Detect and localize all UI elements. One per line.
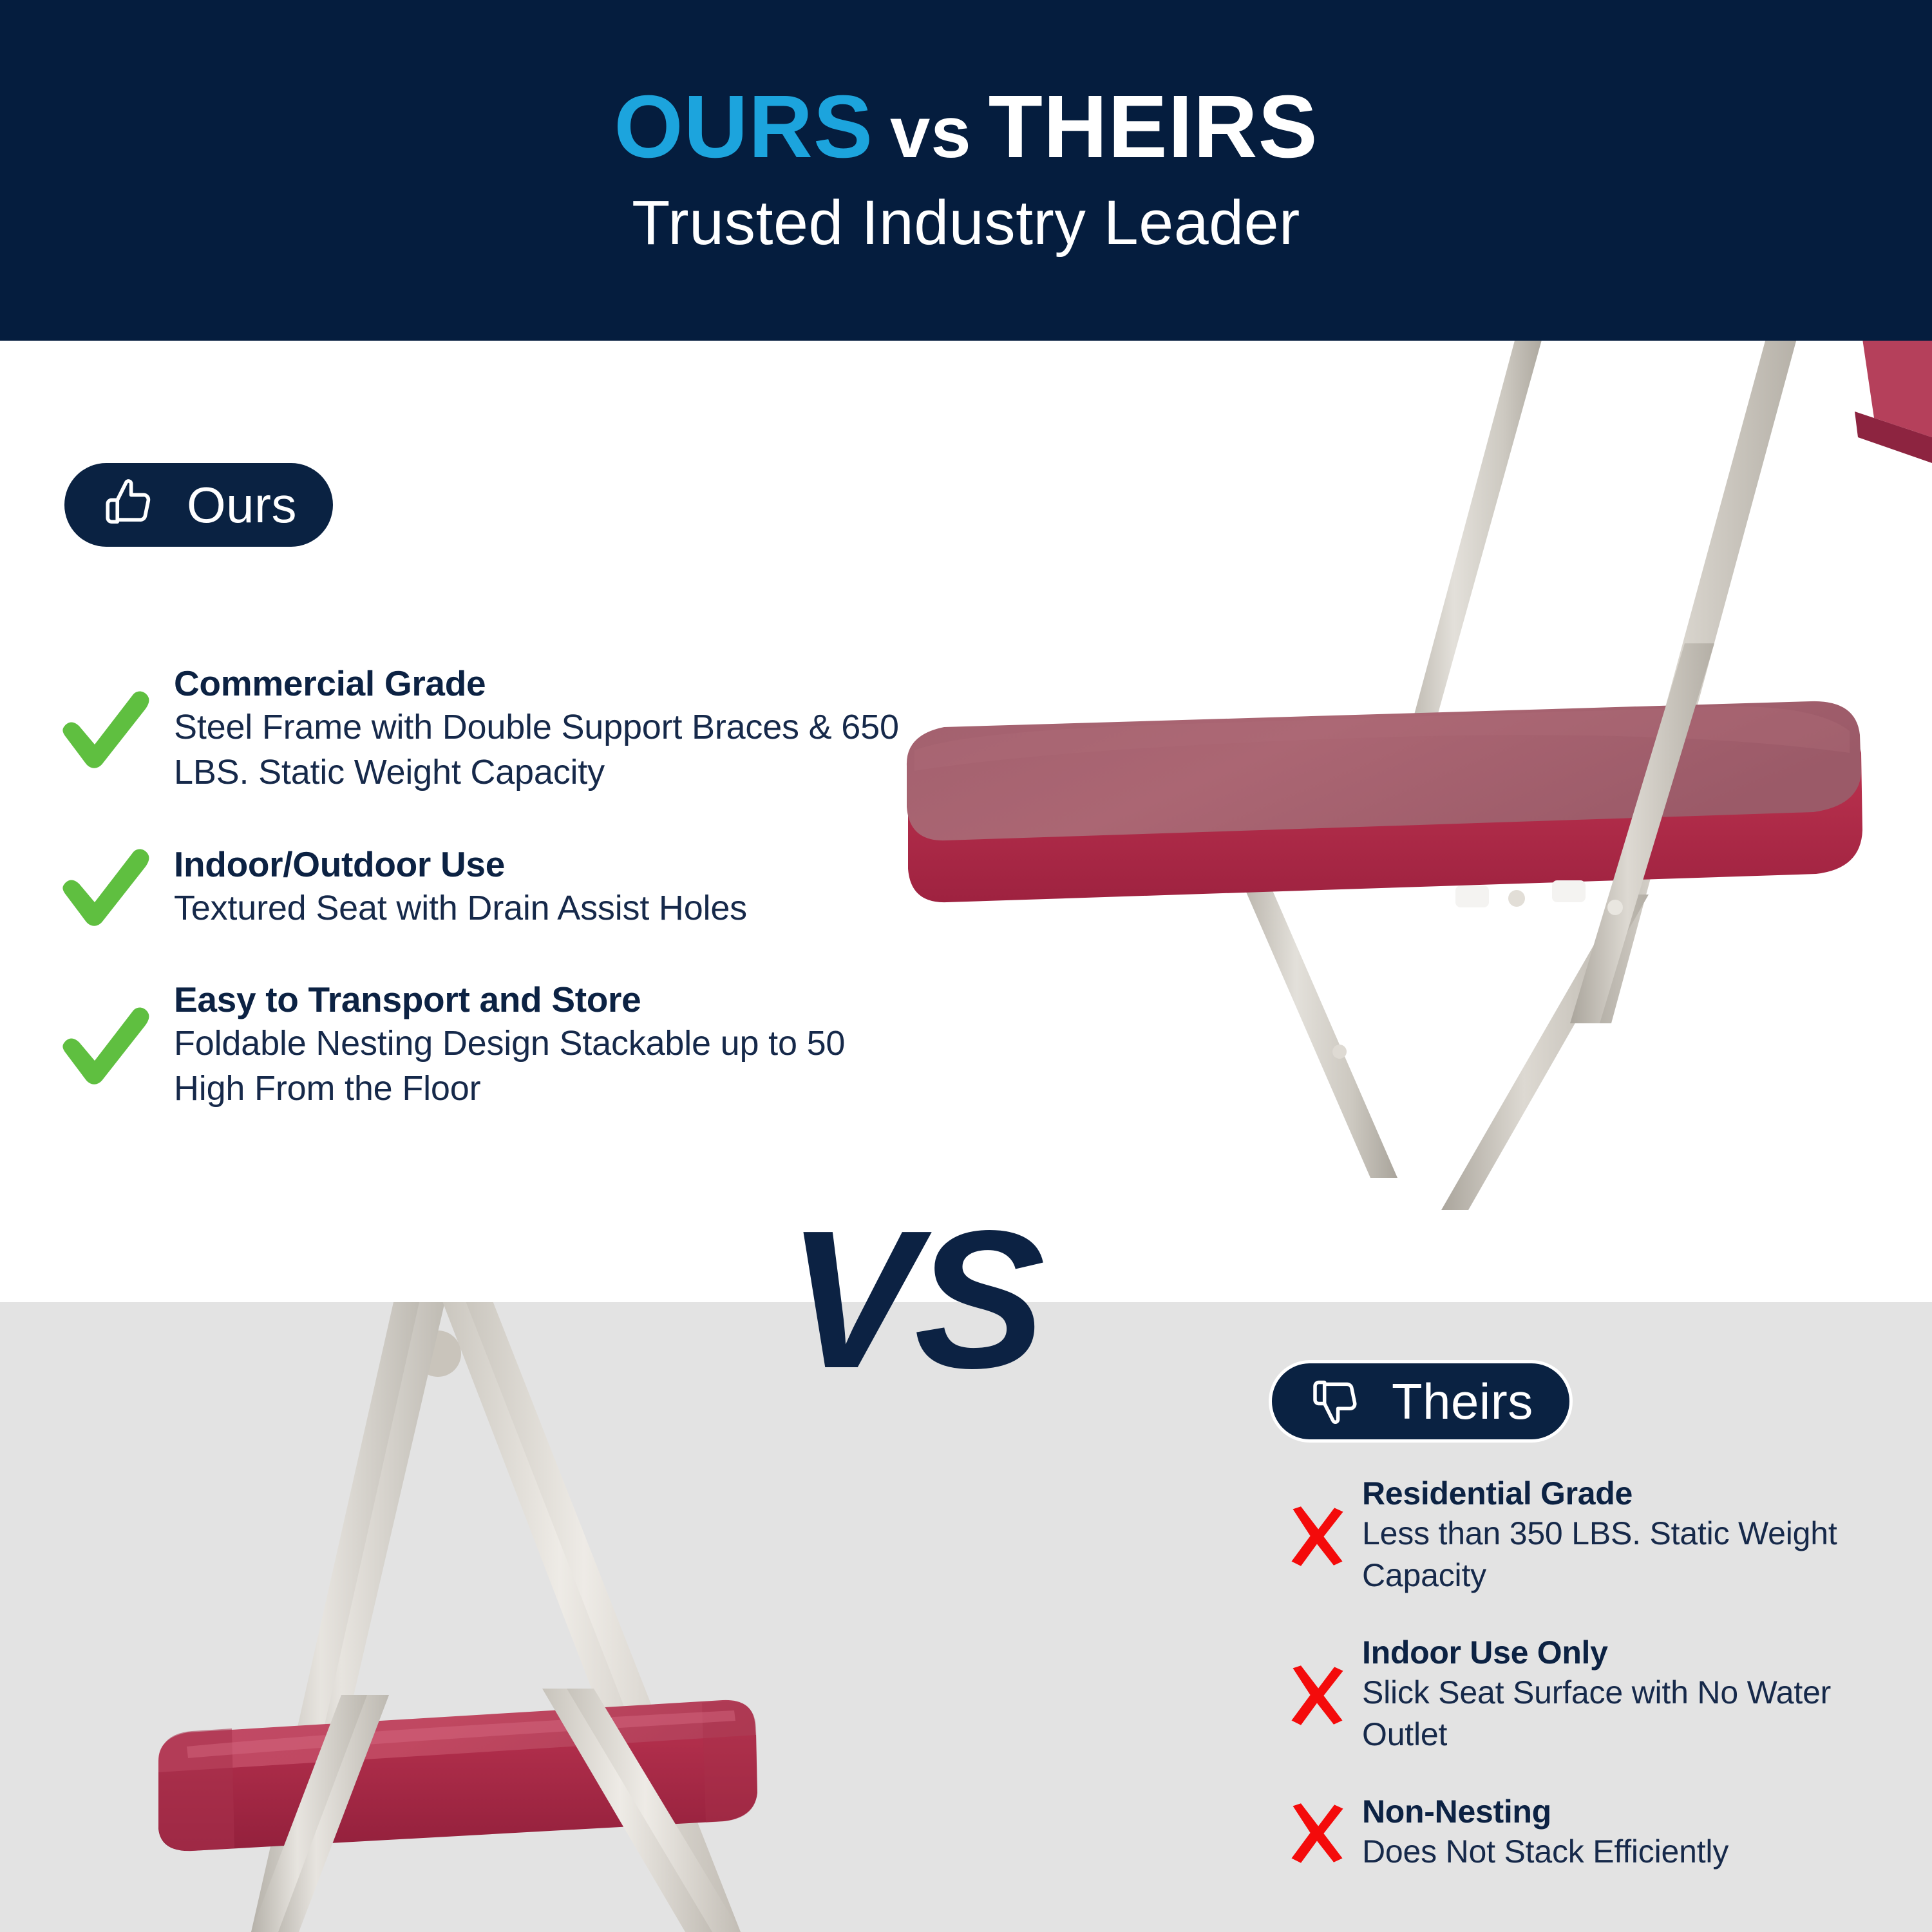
ours-feature-title: Indoor/Outdoor Use xyxy=(174,844,505,884)
cross-icon xyxy=(1272,1502,1362,1569)
thumbs-down-icon xyxy=(1308,1372,1365,1432)
open-folding-chair-photo xyxy=(889,341,1932,1302)
check-icon xyxy=(39,997,174,1094)
check-icon xyxy=(39,681,174,777)
check-icon xyxy=(39,838,174,935)
theirs-feature-item: Indoor Use Only Slick Seat Surface with … xyxy=(1272,1634,1922,1756)
theirs-badge[interactable]: Theirs xyxy=(1269,1360,1573,1443)
title-ours: OURS xyxy=(614,82,873,171)
ours-feature-title: Commercial Grade xyxy=(174,663,486,703)
theirs-badge-label: Theirs xyxy=(1392,1372,1533,1431)
theirs-feature-desc: Less than 350 LBS. Static Weight Capacit… xyxy=(1362,1515,1837,1593)
ours-feature-item: Commercial Grade Steel Frame with Double… xyxy=(39,663,902,795)
cross-icon xyxy=(1272,1799,1362,1866)
ours-feature-desc: Foldable Nesting Design Stackable up to … xyxy=(174,1024,845,1108)
page-header: OURS vs THEIRS Trusted Industry Leader xyxy=(0,0,1932,341)
folded-chair-photo xyxy=(39,1302,1249,1932)
ours-feature-item: Easy to Transport and Store Foldable Nes… xyxy=(39,979,902,1111)
theirs-feature-list: Residential Grade Less than 350 LBS. Sta… xyxy=(1272,1475,1922,1910)
ours-section: Ours Commercial Grade Steel Frame with D… xyxy=(0,341,1932,1302)
title-theirs: THEIRS xyxy=(989,82,1318,171)
theirs-feature-desc: Does Not Stack Efficiently xyxy=(1362,1833,1728,1870)
ours-feature-desc: Textured Seat with Drain Assist Holes xyxy=(174,889,747,927)
theirs-feature-desc: Slick Seat Surface with No Water Outlet xyxy=(1362,1674,1831,1752)
theirs-feature-item: Residential Grade Less than 350 LBS. Sta… xyxy=(1272,1475,1922,1596)
ours-feature-list: Commercial Grade Steel Frame with Double… xyxy=(39,663,902,1155)
thumbs-up-icon xyxy=(100,475,158,536)
ours-badge-label: Ours xyxy=(187,476,297,535)
ours-badge[interactable]: Ours xyxy=(64,463,333,547)
cross-icon xyxy=(1272,1662,1362,1728)
ours-feature-desc: Steel Frame with Double Support Braces &… xyxy=(174,708,899,791)
page-title: OURS vs THEIRS xyxy=(614,82,1318,171)
page-subtitle: Trusted Industry Leader xyxy=(632,187,1300,259)
ours-feature-title: Easy to Transport and Store xyxy=(174,980,641,1019)
theirs-feature-title: Residential Grade xyxy=(1362,1475,1633,1511)
title-vs: vs xyxy=(890,97,972,169)
theirs-feature-item: Non-Nesting Does Not Stack Efficiently xyxy=(1272,1793,1922,1873)
theirs-feature-title: Non-Nesting xyxy=(1362,1794,1551,1830)
vs-divider-label: VS xyxy=(787,1201,1041,1397)
ours-feature-item: Indoor/Outdoor Use Textured Seat with Dr… xyxy=(39,838,902,935)
theirs-feature-title: Indoor Use Only xyxy=(1362,1634,1608,1671)
